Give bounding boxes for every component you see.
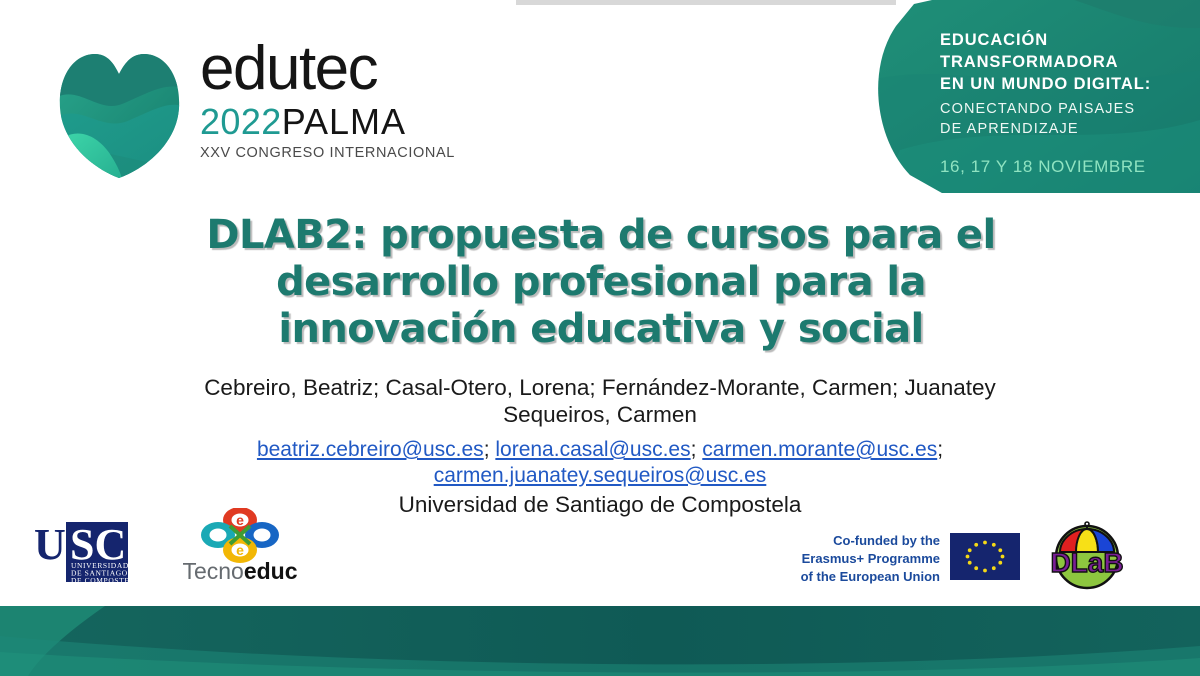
email-link-3[interactable]: carmen.morante@usc.es <box>702 438 937 461</box>
slide-title-line-2: desarrollo profesional para la <box>180 259 1022 306</box>
email-separator-1: ; <box>484 438 496 461</box>
erasmus-line-3: of the European Union <box>770 568 940 586</box>
edutec-wordmark-block: edutec 2022PALMA XXV CONGRESO INTERNACIO… <box>200 40 460 161</box>
congress-theme-banner: EDUCACIÓN TRANSFORMADORA EN UN MUNDO DIG… <box>870 0 1200 215</box>
authors-line-1: Cebreiro, Beatriz; Casal-Otero, Lorena; … <box>150 374 1050 401</box>
tecnoeduc-word-light: Tecno <box>182 558 243 584</box>
edutec-heart-mark-icon <box>52 42 187 182</box>
authors-line-2: Sequeiros, Carmen <box>150 401 1050 428</box>
tecnoeduc-rings-mark-icon: e e <box>160 508 320 564</box>
tecnoeduc-word-bold: educ <box>244 558 298 584</box>
eu-stars <box>950 533 1020 580</box>
slide-top-edge-bar <box>516 0 896 5</box>
erasmus-line-2: Erasmus+ Programme <box>770 550 940 568</box>
banner-text-block: EDUCACIÓN TRANSFORMADORA EN UN MUNDO DIG… <box>940 30 1190 177</box>
email-separator-2: ; <box>691 438 703 461</box>
email-link-1[interactable]: beatriz.cebreiro@usc.es <box>257 438 484 461</box>
usc-logo: U SC UNIVERSIDADE DE SANTIAGO DE COMPOST… <box>32 517 172 587</box>
erasmus-text-block: Co-funded by the Erasmus+ Programme of t… <box>770 532 940 586</box>
bottom-teal-band <box>0 606 1200 676</box>
usc-sub-line-3: DE COMPOSTELA <box>71 576 141 585</box>
erasmus-eu-logo: Co-funded by the Erasmus+ Programme of t… <box>770 530 1020 586</box>
dlab-umbrella-mark-icon: DLaB <box>1046 519 1128 591</box>
authors-block: Cebreiro, Beatriz; Casal-Otero, Lorena; … <box>150 374 1050 429</box>
usc-letter-u: U <box>34 520 66 569</box>
banner-line-2: TRANSFORMADORA <box>940 52 1190 74</box>
erasmus-line-1: Co-funded by the <box>770 532 940 550</box>
banner-line-3: EN UN MUNDO DIGITAL: <box>940 74 1190 96</box>
dlab-wordmark: DLaB <box>1050 547 1123 578</box>
edutec-year-city: 2022PALMA <box>200 104 460 140</box>
slide-title: DLAB2: propuesta de cursos para el desar… <box>180 212 1022 352</box>
emails-block: beatriz.cebreiro@usc.es; lorena.casal@us… <box>150 437 1050 488</box>
slide-title-line-3: innovación educativa y social <box>180 306 1022 353</box>
edutec-logo: edutec 2022PALMA XXV CONGRESO INTERNACIO… <box>52 40 462 180</box>
edutec-year: 2022 <box>200 101 282 142</box>
edutec-city: PALMA <box>282 101 406 142</box>
edutec-tagline: XXV CONGRESO INTERNACIONAL <box>200 145 452 161</box>
tecnoeduc-glyph-top: e <box>236 512 244 528</box>
email-separator-3: ; <box>937 438 943 461</box>
banner-line-4: CONECTANDO PAISAJES <box>940 99 1190 119</box>
banner-line-1: EDUCACIÓN <box>940 30 1190 52</box>
edutec-wordmark: edutec <box>200 40 460 99</box>
banner-dates: 16, 17 Y 18 NOVIEMBRE <box>940 157 1190 177</box>
slide-title-line-1: DLAB2: propuesta de cursos para el <box>180 212 1022 259</box>
email-link-2[interactable]: lorena.casal@usc.es <box>495 438 690 461</box>
banner-line-5: DE APRENDIZAJE <box>940 119 1190 139</box>
eu-flag-icon <box>950 533 1020 580</box>
tecnoeduc-glyph-bottom: e <box>236 542 244 558</box>
tecnoeduc-wordmark: Tecnoeduc <box>160 560 320 583</box>
bottom-wave-shape <box>0 606 1200 676</box>
email-link-4[interactable]: carmen.juanatey.sequeiros@usc.es <box>434 464 767 487</box>
presentation-slide: EDUCACIÓN TRANSFORMADORA EN UN MUNDO DIG… <box>0 0 1200 676</box>
tecnoeduc-logo: e e Tecnoeduc <box>160 508 320 593</box>
